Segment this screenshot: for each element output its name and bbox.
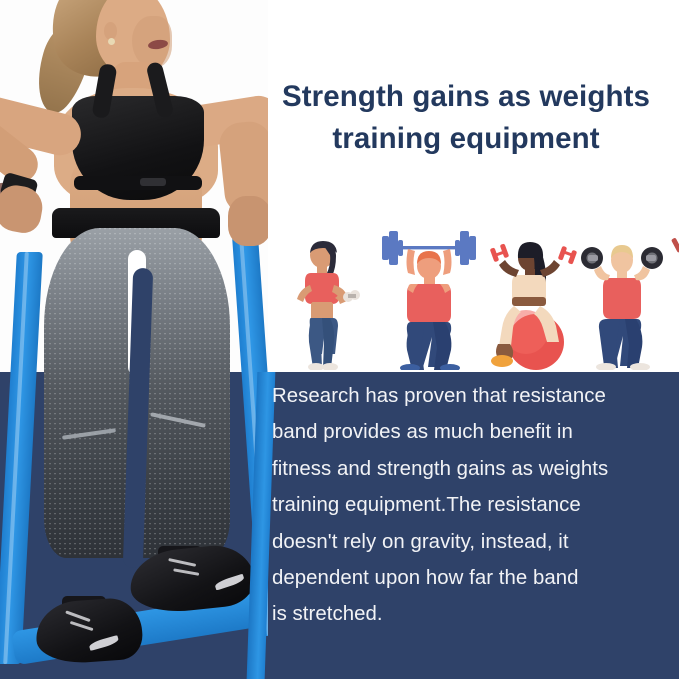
- earring: [108, 38, 115, 45]
- workout-illustration-strip: [268, 206, 679, 372]
- description-line: training equipment.The resistance: [272, 487, 674, 523]
- description-line: Research has proven that resistance: [272, 378, 674, 414]
- description-line: doesn't rely on gravity, instead, it: [272, 524, 674, 560]
- description-block: Research has proven that resistance band…: [268, 372, 679, 679]
- description-line: fitness and strength gains as weights: [272, 451, 674, 487]
- figure-stability-ball-dumbbells: [480, 230, 580, 370]
- description-text: Research has proven that resistance band…: [272, 378, 674, 633]
- figure-arms-raised: [666, 228, 679, 370]
- figure-barbell-overhead-press: [366, 218, 492, 370]
- hero-photo: [0, 0, 268, 679]
- figure-dumbbell-curl: [286, 240, 366, 370]
- bra-underband: [74, 176, 202, 190]
- headline: Strength gains as weights training equip…: [264, 76, 668, 160]
- product-infographic: Strength gains as weights training equip…: [0, 0, 679, 679]
- headline-line-1: Strength gains as weights: [264, 76, 668, 118]
- description-line: is stretched.: [272, 596, 674, 632]
- right-hand-grip: [228, 196, 268, 246]
- description-line: band provides as much benefit in: [272, 414, 674, 450]
- description-line: dependent upon how far the band: [272, 560, 674, 596]
- headline-line-2: training equipment: [264, 118, 668, 160]
- bra-clip: [140, 178, 166, 186]
- figure-shoulder-press: [576, 234, 668, 370]
